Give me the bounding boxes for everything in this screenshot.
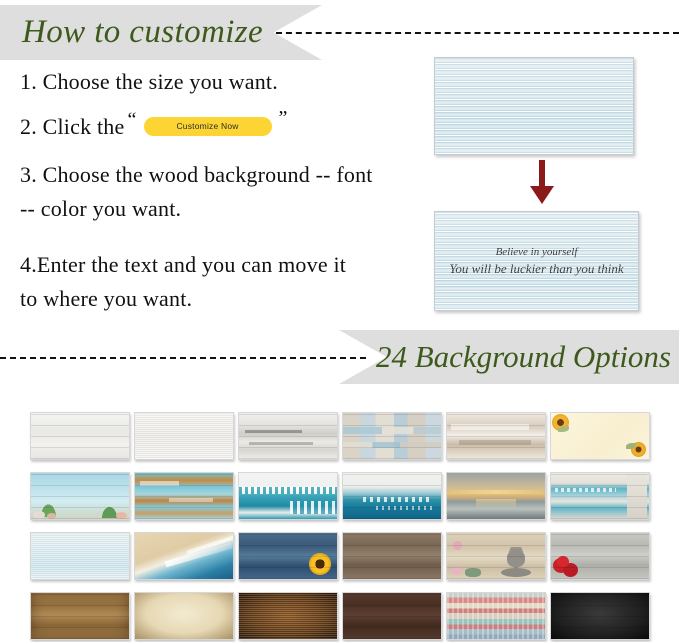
background-thumb-soft-white-wood[interactable] [134,412,234,460]
background-thumb-brown-barn-wood[interactable] [342,532,442,580]
background-thumb-navy-plank-sunflower[interactable] [238,532,338,580]
background-thumb-sandy-beach-shore[interactable] [134,532,234,580]
customized-sign-preview: Believe in yourself You will be luckier … [434,211,639,311]
background-thumb-cream-sunflower[interactable] [550,412,650,460]
background-thumb-multicolor-mosaic-plank[interactable] [342,412,442,460]
instruction-steps: 1. Choose the size you want. 2. Click th… [20,70,420,339]
product-infographic: How to customize 1. Choose the size you … [0,0,679,642]
background-thumb-golden-sunset-seascape[interactable] [446,472,546,520]
blank-sign-preview [434,57,634,155]
background-thumb-gray-weathered-plank[interactable] [238,412,338,460]
background-thumb-underwater-coral-reef[interactable] [30,472,130,520]
background-thumb-gray-wood-red-poppies[interactable] [550,532,650,580]
quote-open-glyph: “ [127,110,136,131]
background-thumb-buddha-zen-wood[interactable] [446,532,546,580]
background-options-banner: 24 Background Options [339,330,679,384]
background-options-title: 24 Background Options [376,339,671,375]
sign-text-line-2: You will be luckier than you think [449,261,623,277]
background-thumb-aged-parchment[interactable] [134,592,234,640]
background-thumb-light-blue-wash[interactable] [30,532,130,580]
background-thumb-beige-distressed-wood[interactable] [446,412,546,460]
step-2-prefix: 2. Click the [20,115,124,138]
background-thumb-white-washed-plank[interactable] [30,412,130,460]
down-arrow-icon [527,160,557,205]
dashed-connector-top [276,32,679,34]
background-thumb-teal-peeling-plank[interactable] [134,472,234,520]
background-thumb-teal-navy-gradient-plank[interactable] [342,472,442,520]
background-thumb-pastel-striped-plank[interactable] [446,592,546,640]
background-thumb-teal-abstract-splash[interactable] [238,472,338,520]
background-thumb-teal-white-plank[interactable] [550,472,650,520]
background-thumb-light-brown-barnwood[interactable] [30,592,130,640]
background-thumb-dark-brown-grunge[interactable] [238,592,338,640]
step-2: 2. Click the “ Customize Now ” [20,115,420,138]
dashed-connector-bottom [0,357,366,359]
page-title: How to customize [22,14,263,51]
step-1: 1. Choose the size you want. [20,70,420,93]
customize-now-button[interactable]: Customize Now [144,117,272,136]
quote-close-glyph: ” [279,108,288,129]
sign-text-line-1: Believe in yourself [496,246,578,258]
background-thumb-dark-walnut-plank[interactable] [342,592,442,640]
background-options-grid [30,412,650,640]
how-to-customize-banner: How to customize [0,5,322,60]
background-thumb-black-wood[interactable] [550,592,650,640]
step-3: 3. Choose the wood background -- font --… [20,158,375,226]
step-4: 4.Enter the text and you can move it to … [20,248,360,316]
